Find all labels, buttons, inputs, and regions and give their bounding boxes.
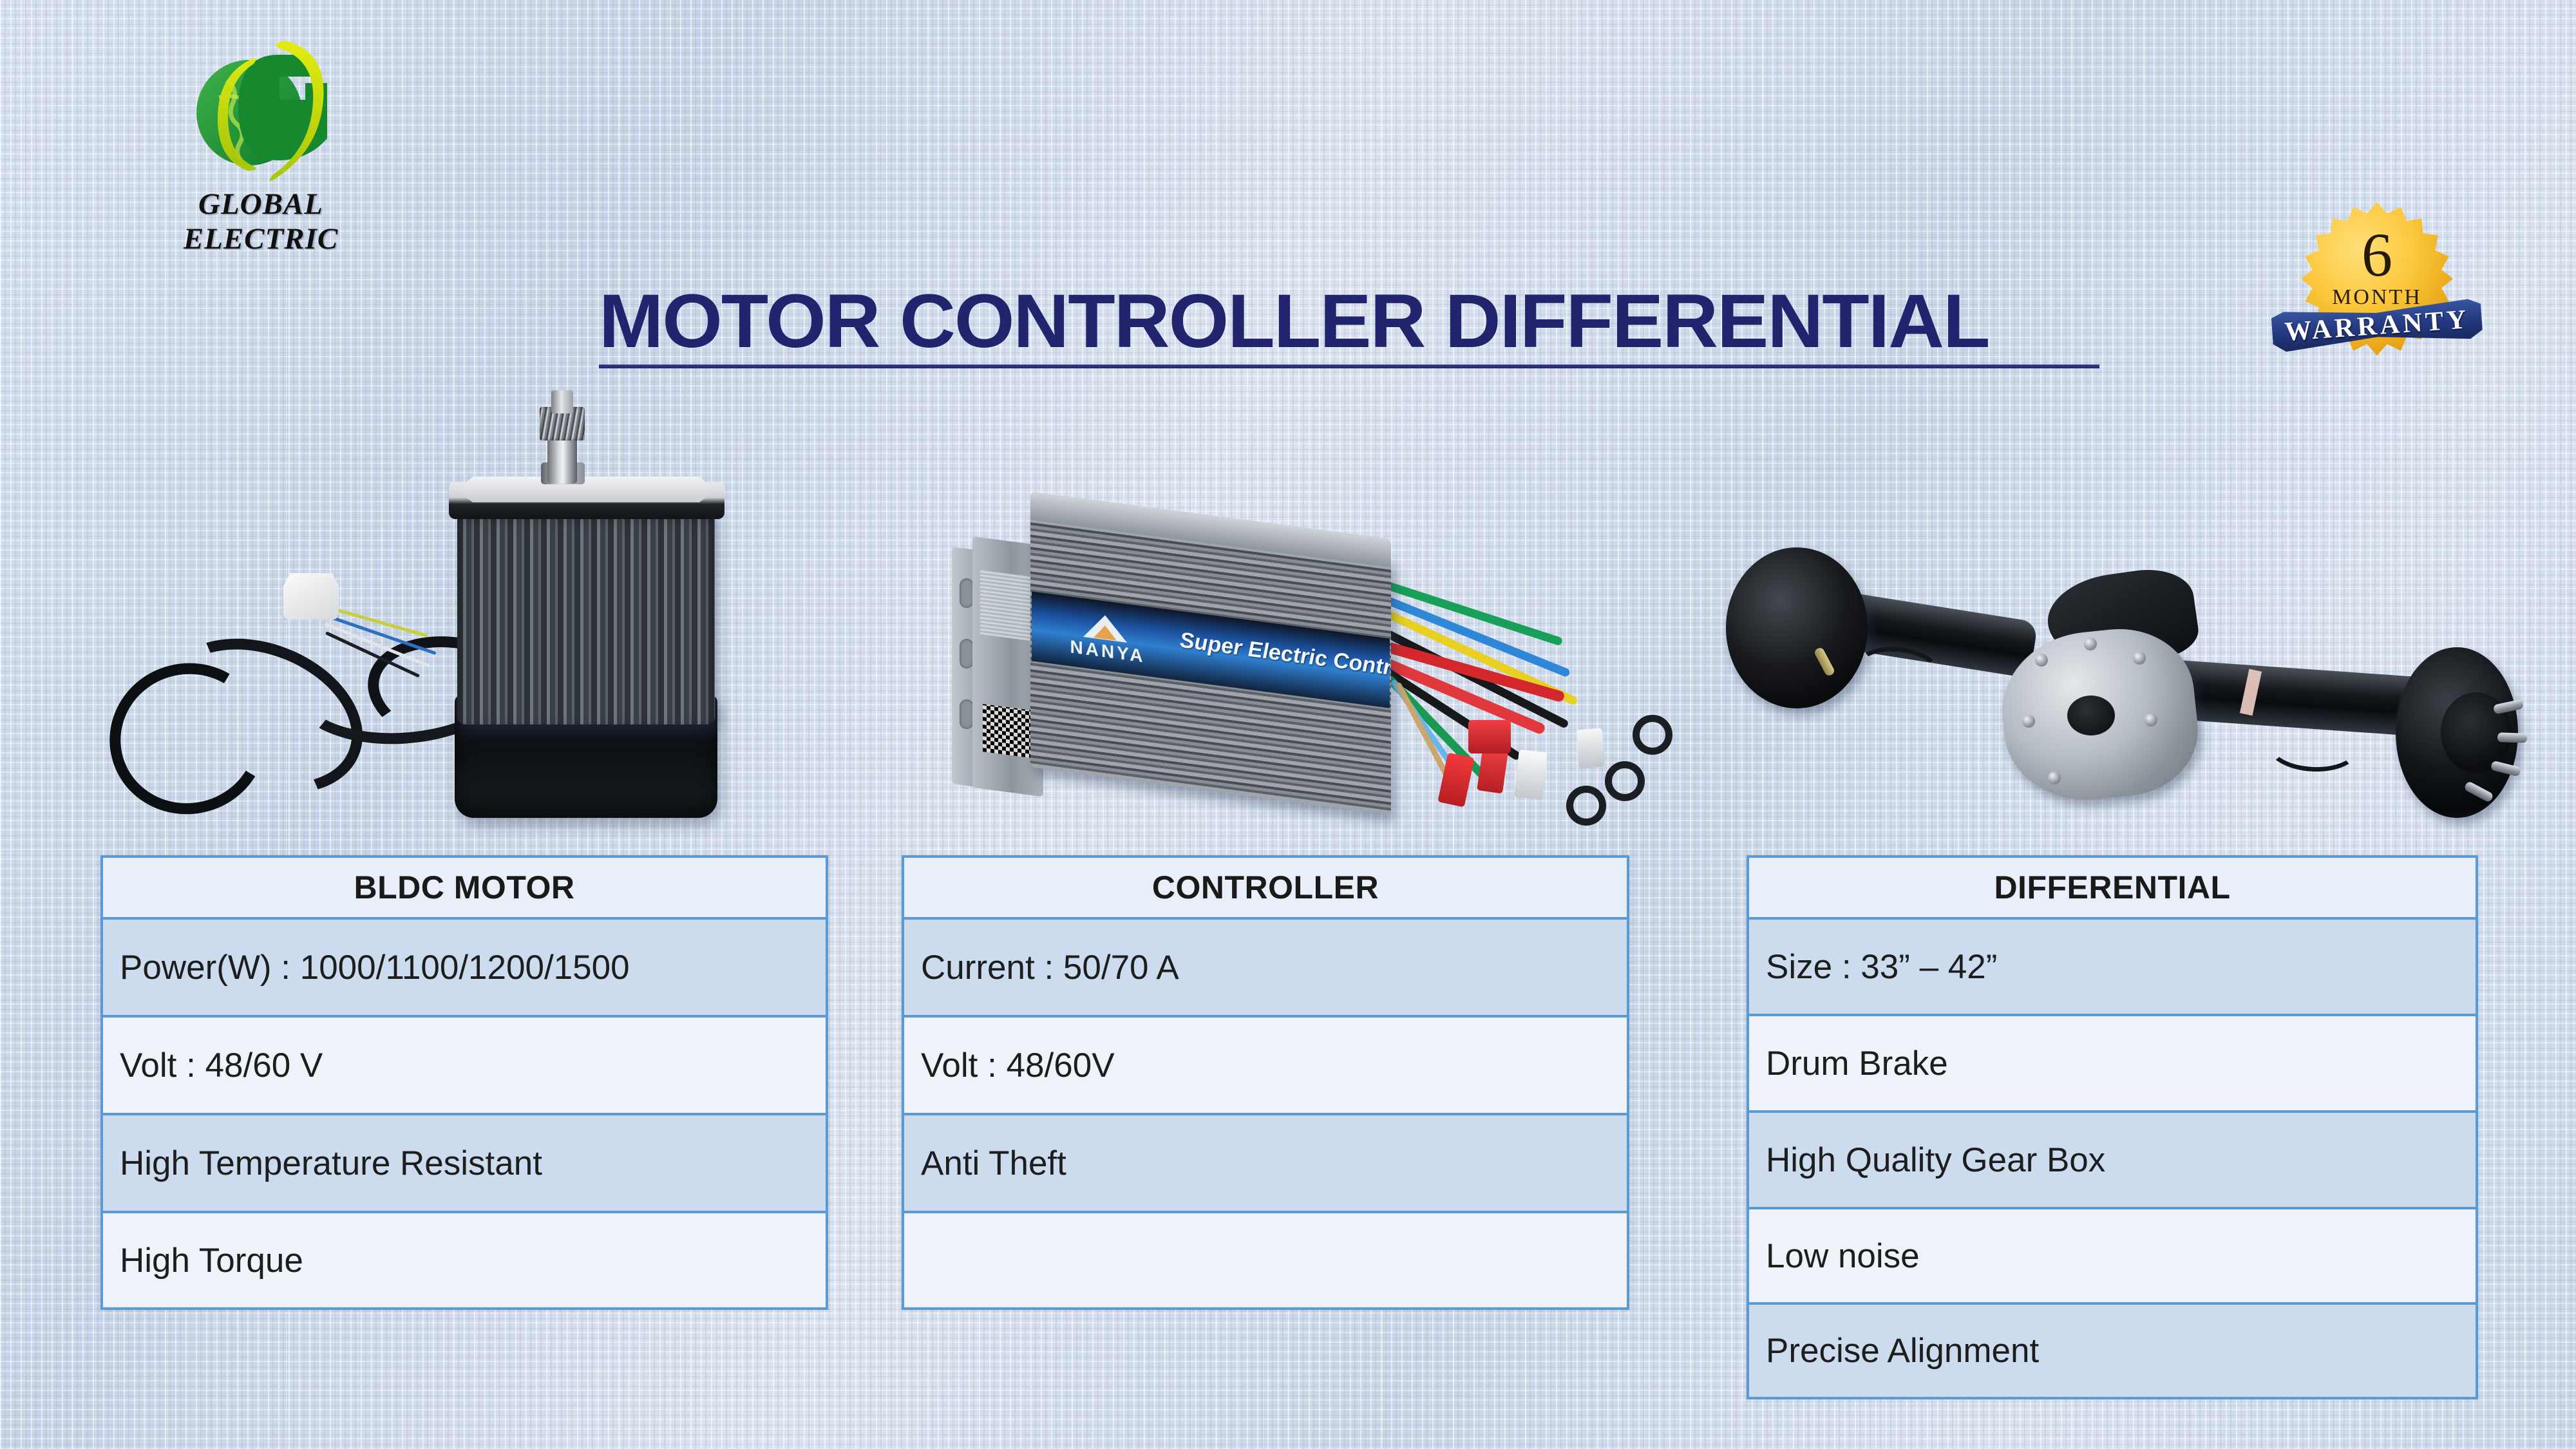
controller-mount-slot xyxy=(960,639,974,668)
title-text: MOTOR CONTROLLER DIFFERENTIAL xyxy=(599,279,1989,364)
motor-connector xyxy=(283,573,339,620)
spec-value: Volt : 48/60 V xyxy=(120,1046,323,1085)
controller-bullet-terminal-white xyxy=(1577,728,1605,769)
drum-brake-left xyxy=(1726,547,1868,708)
controller-mount-slot xyxy=(960,578,974,608)
spec-table-differential: DIFFERENTIAL Size : 33” – 42” Drum Brake… xyxy=(1747,855,2478,1399)
table-row: Anti Theft xyxy=(904,1115,1627,1213)
controller-connector-housing-red xyxy=(1468,720,1511,753)
housing-bolt xyxy=(2022,715,2035,728)
spec-value: High Quality Gear Box xyxy=(1766,1141,2105,1180)
wheel-stud xyxy=(2497,732,2527,743)
table-row: Current : 50/70 A xyxy=(904,920,1627,1018)
controller-device-label: Super Electric Controller xyxy=(1180,628,1390,687)
housing-bolt xyxy=(2145,714,2157,726)
motor-finned-body xyxy=(457,506,715,724)
spec-value: Power(W) : 1000/1100/1200/1500 xyxy=(120,948,630,987)
spec-value: High Torque xyxy=(120,1241,303,1280)
spec-table-header: DIFFERENTIAL xyxy=(1749,858,2476,920)
housing-bolt xyxy=(2084,638,2097,650)
table-row: Volt : 48/60 V xyxy=(103,1018,826,1115)
spec-value: Drum Brake xyxy=(1766,1044,1948,1083)
table-row: High Quality Gear Box xyxy=(1749,1113,2476,1209)
controller-photo: NANYA Super Electric Controller xyxy=(934,502,1681,837)
spec-table-header: CONTROLLER xyxy=(904,858,1627,920)
spec-table-controller: CONTROLLER Current : 50/70 A Volt : 48/6… xyxy=(902,855,1629,1310)
badge-number: 6 xyxy=(2300,224,2454,286)
differential-photo xyxy=(1700,509,2524,844)
logo-brand-text: GLOBAL ELECTRIC xyxy=(148,187,374,256)
gearbox-input-port xyxy=(2067,696,2115,735)
housing-bolt xyxy=(2035,654,2048,667)
company-logo: GLOBAL ELECTRIC xyxy=(155,35,367,254)
title-underline xyxy=(599,365,2099,368)
table-row: High Torque xyxy=(103,1213,826,1307)
qr-code-icon xyxy=(983,704,1030,758)
controller-brand-name: NANYA xyxy=(1069,636,1146,667)
spec-table-header: BLDC MOTOR xyxy=(103,858,826,920)
spec-value: Volt : 48/60V xyxy=(921,1046,1115,1085)
controller-mount-slot xyxy=(960,699,974,729)
controller-ring-terminal xyxy=(1633,715,1672,755)
spec-value: Anti Theft xyxy=(921,1144,1066,1183)
table-row-empty xyxy=(904,1213,1627,1307)
spec-table-bldc-motor: BLDC MOTOR Power(W) : 1000/1100/1200/150… xyxy=(100,855,828,1310)
table-row: Precise Alignment xyxy=(1749,1305,2476,1397)
spec-value: High Temperature Resistant xyxy=(120,1144,542,1183)
spec-table-title: DIFFERENTIAL xyxy=(1994,869,2230,906)
table-row: Power(W) : 1000/1100/1200/1500 xyxy=(103,920,826,1018)
spec-value: Low noise xyxy=(1766,1236,1920,1276)
page-title: MOTOR CONTROLLER DIFFERENTIAL xyxy=(599,283,2248,370)
controller-bullet-terminal-white xyxy=(1514,750,1547,800)
table-row: Size : 33” – 42” xyxy=(1749,920,2476,1016)
spec-value: Precise Alignment xyxy=(1766,1331,2039,1370)
globe-g-icon xyxy=(188,35,336,190)
controller-bullet-terminal-red xyxy=(1437,752,1474,807)
spec-table-title: BLDC MOTOR xyxy=(354,869,575,906)
motor-mount-plate xyxy=(457,477,715,502)
table-row: Drum Brake xyxy=(1749,1016,2476,1113)
controller-ring-terminal xyxy=(1566,786,1606,826)
bldc-motor-photo xyxy=(97,386,747,837)
table-row: Low noise xyxy=(1749,1209,2476,1305)
table-row: Volt : 48/60V xyxy=(904,1018,1627,1115)
warranty-badge: 6 MONTH WARRANTY xyxy=(2267,193,2486,380)
controller-ring-terminal xyxy=(1605,761,1645,801)
housing-bolt xyxy=(2133,652,2146,665)
controller-spec-sticker xyxy=(980,570,1032,641)
motor-shaft-tip xyxy=(551,390,573,413)
spec-value: Current : 50/70 A xyxy=(921,948,1179,987)
spec-table-title: CONTROLLER xyxy=(1152,869,1379,906)
housing-bolt xyxy=(2048,772,2061,784)
spec-value: Size : 33” – 42” xyxy=(1766,947,1997,987)
table-row: High Temperature Resistant xyxy=(103,1115,826,1213)
